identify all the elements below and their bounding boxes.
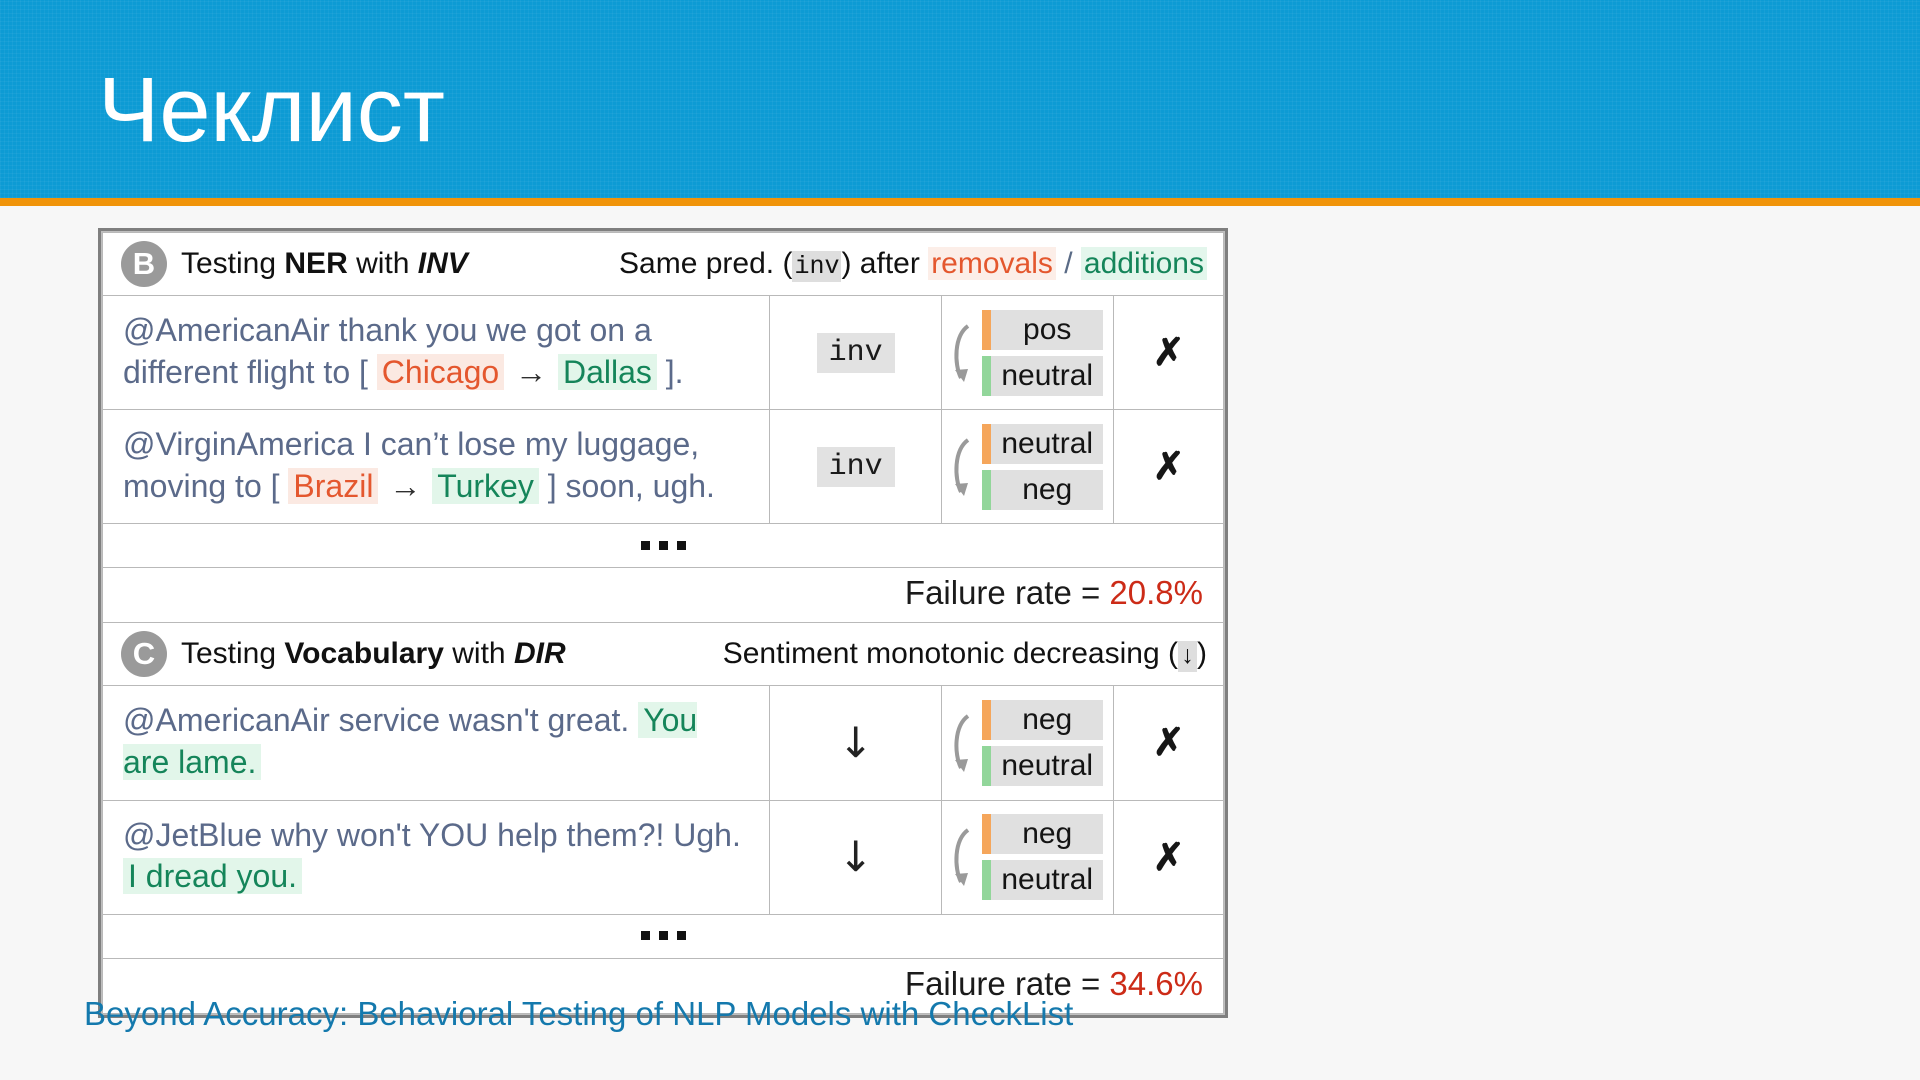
prediction-after-label: neg: [982, 470, 1103, 510]
figure-caption: Beyond Accuracy: Behavioral Testing of N…: [84, 995, 1073, 1033]
tweet-text-tail: ] soon, ugh.: [539, 468, 715, 504]
section-header-row-c: CTesting Vocabulary with DIRSentiment mo…: [103, 623, 1224, 686]
label-color-bar-green: [982, 470, 991, 510]
prediction-change-arrow-icon: [948, 706, 978, 780]
ellipsis-cell: [103, 914, 1224, 958]
prediction-cell: negneutral: [942, 800, 1114, 914]
table-row: @JetBlue why won't YOU help them?! Ugh. …: [103, 800, 1224, 914]
prediction-change-arrow-icon: [948, 820, 978, 894]
prediction-before-text: neutral: [991, 424, 1103, 464]
tweet-added-entity: I dread you.: [123, 858, 302, 894]
removals-token: removals: [928, 247, 1056, 280]
table-row: @AmericanAir thank you we got on a diffe…: [103, 296, 1224, 410]
prediction-after-label: neutral: [982, 746, 1103, 786]
label-color-bar-green: [982, 746, 991, 786]
prediction-before-label: neutral: [982, 424, 1103, 464]
label-color-bar-orange: [982, 424, 991, 464]
slide-header-rule: [0, 198, 1920, 206]
section-description: Same pred. (inv) after removals / additi…: [589, 247, 1207, 281]
tweet-text-plain: @AmericanAir service wasn't great.: [123, 702, 638, 738]
section-title: Testing NER with INV: [181, 247, 468, 281]
expectation-cell: inv: [770, 410, 942, 524]
label-color-bar-orange: [982, 310, 991, 350]
tweet-cell: @JetBlue why won't YOU help them?! Ugh. …: [103, 800, 770, 914]
cross-mark-icon: ✗: [1153, 722, 1185, 764]
section-badge-icon: C: [121, 631, 167, 677]
tweet-cell: @AmericanAir thank you we got on a diffe…: [103, 296, 770, 410]
section-desc-token: inv: [792, 251, 841, 282]
failure-mark-cell: ✗: [1114, 800, 1224, 914]
table-row: @AmericanAir service wasn't great. You a…: [103, 686, 1224, 800]
checklist-figure: BTesting NER with INVSame pred. (inv) af…: [98, 228, 1228, 1018]
failure-rate-label: Failure rate =: [905, 574, 1110, 611]
expectation-token: inv: [817, 333, 895, 373]
tweet-text-plain: @JetBlue why won't YOU help them?! Ugh.: [123, 817, 741, 853]
prediction-change-arrow-icon: [948, 316, 978, 390]
tweet-removed-entity: Chicago: [377, 354, 504, 390]
cross-mark-icon: ✗: [1153, 446, 1185, 488]
tweet-added-entity: Turkey: [432, 468, 539, 504]
ellipsis-row: [103, 914, 1224, 958]
prediction-after-text: neg: [991, 470, 1103, 510]
cross-mark-icon: ✗: [1153, 332, 1185, 374]
prediction-after-label: neutral: [982, 356, 1103, 396]
section-title: Testing Vocabulary with DIR: [181, 637, 566, 671]
checklist-table: BTesting NER with INVSame pred. (inv) af…: [102, 232, 1224, 1014]
tweet-text-tail: ].: [657, 354, 684, 390]
prediction-before-label: neg: [982, 700, 1103, 740]
expectation-cell: ↓: [770, 686, 942, 800]
failure-rate-value: 34.6%: [1109, 965, 1203, 1002]
prediction-after-text: neutral: [991, 860, 1103, 900]
prediction-before-text: neg: [991, 814, 1103, 854]
prediction-before-label: pos: [982, 310, 1103, 350]
tweet-removed-entity: Brazil: [288, 468, 378, 504]
failure-rate-value: 20.8%: [1109, 574, 1203, 611]
ellipsis-row: [103, 524, 1224, 568]
expectation-cell: inv: [770, 296, 942, 410]
label-color-bar-orange: [982, 814, 991, 854]
expectation-down-arrow-icon: ↓: [838, 836, 873, 878]
failure-mark-cell: ✗: [1114, 410, 1224, 524]
tweet-cell: @AmericanAir service wasn't great. You a…: [103, 686, 770, 800]
failure-mark-cell: ✗: [1114, 296, 1224, 410]
desc-separator: /: [1056, 247, 1081, 280]
prediction-change-arrow-icon: [948, 430, 978, 504]
section-header-cell: CTesting Vocabulary with DIRSentiment mo…: [103, 623, 1224, 686]
label-color-bar-green: [982, 860, 991, 900]
prediction-after-label: neutral: [982, 860, 1103, 900]
tweet-cell: @VirginAmerica I can’t lose my luggage, …: [103, 410, 770, 524]
prediction-after-text: neutral: [991, 746, 1103, 786]
prediction-cell: posneutral: [942, 296, 1114, 410]
section-header-cell: BTesting NER with INVSame pred. (inv) af…: [103, 233, 1224, 296]
failure-rate-cell: Failure rate = 20.8%: [103, 568, 1224, 623]
prediction-before-text: pos: [991, 310, 1103, 350]
expectation-token: inv: [817, 447, 895, 487]
tweet-added-entity: Dallas: [558, 354, 657, 390]
replacement-arrow-icon: →: [504, 354, 558, 390]
expectation-cell: ↓: [770, 800, 942, 914]
section-description: Sentiment monotonic decreasing (↓): [693, 637, 1207, 671]
page-title: Чеклист: [98, 62, 445, 159]
expectation-down-arrow-icon: ↓: [838, 722, 873, 764]
ellipsis-icon: [641, 931, 686, 940]
prediction-cell: neutralneg: [942, 410, 1114, 524]
section-desc-token: ↓: [1178, 641, 1197, 672]
ellipsis-cell: [103, 524, 1224, 568]
cross-mark-icon: ✗: [1153, 837, 1185, 879]
replacement-arrow-icon: →: [378, 468, 432, 504]
prediction-after-text: neutral: [991, 356, 1103, 396]
ellipsis-icon: [641, 541, 686, 550]
failure-rate-row: Failure rate = 20.8%: [103, 568, 1224, 623]
label-color-bar-green: [982, 356, 991, 396]
prediction-before-text: neg: [991, 700, 1103, 740]
prediction-cell: negneutral: [942, 686, 1114, 800]
section-header-row-b: BTesting NER with INVSame pred. (inv) af…: [103, 233, 1224, 296]
failure-mark-cell: ✗: [1114, 686, 1224, 800]
checklist-body: BTesting NER with INVSame pred. (inv) af…: [103, 233, 1224, 1014]
additions-token: additions: [1081, 247, 1207, 280]
label-color-bar-orange: [982, 700, 991, 740]
table-row: @VirginAmerica I can’t lose my luggage, …: [103, 410, 1224, 524]
prediction-before-label: neg: [982, 814, 1103, 854]
section-badge-icon: B: [121, 241, 167, 287]
